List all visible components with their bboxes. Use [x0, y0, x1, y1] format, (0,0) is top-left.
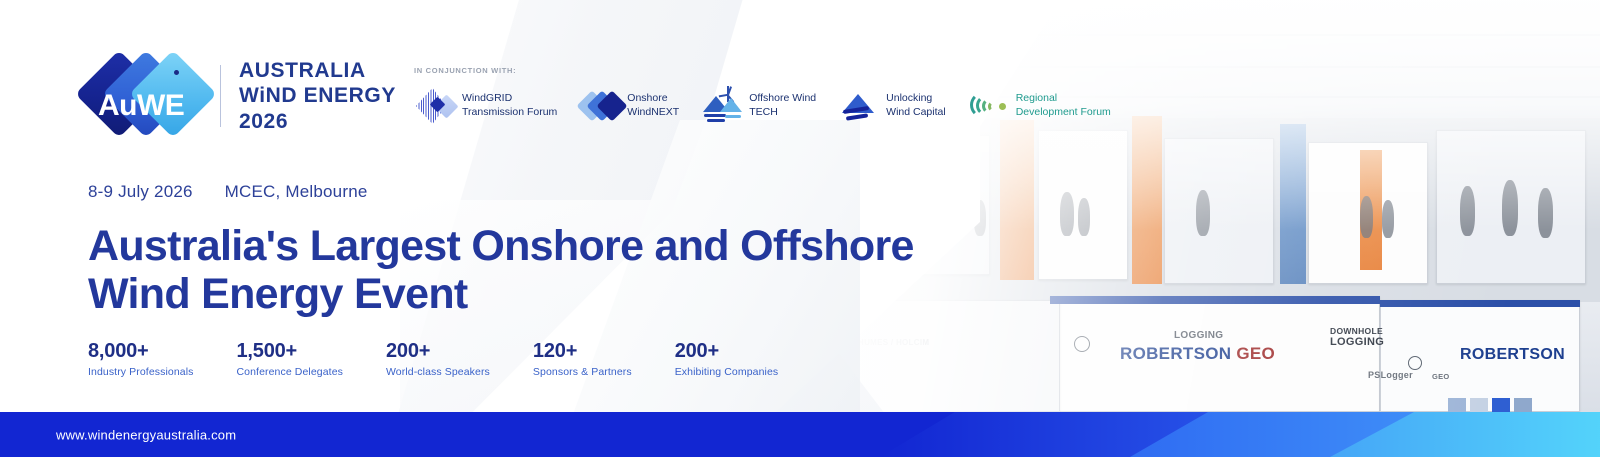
partner-windgrid-line2: Transmission Forum [462, 106, 557, 120]
partner-regional-line1: Regional [1016, 92, 1111, 106]
onshore-windnext-diamonds-icon [579, 84, 627, 128]
partner-unlocking-wind-capital[interactable]: Unlocking Wind Capital [838, 84, 946, 128]
auwe-diamond-mark-icon: AuWE [88, 48, 206, 144]
stat-item: 8,000+ Industry Professionals [88, 340, 194, 378]
partner-unlocking-line2: Wind Capital [886, 106, 946, 120]
partner-windgrid-line1: WindGRID [462, 92, 557, 106]
stat-value: 120+ [533, 340, 632, 363]
partner-unlocking-line1: Unlocking [886, 92, 946, 106]
stat-label: World-class Speakers [386, 366, 490, 378]
stat-label: Industry Professionals [88, 366, 194, 378]
stat-item: 200+ World-class Speakers [386, 340, 490, 378]
website-url[interactable]: www.windenergyaustralia.com [56, 427, 236, 442]
event-dates: 8-9 July 2026 [88, 182, 193, 202]
brand-name-block: AUSTRALIA WiND ENERGY 2026 [239, 58, 396, 135]
partner-onshore-windnext[interactable]: Onshore WindNEXT [579, 84, 679, 128]
stat-label: Exhibiting Companies [675, 366, 779, 378]
partner-regional-label: Regional Development Forum [1016, 92, 1111, 120]
stat-item: 120+ Sponsors & Partners [533, 340, 632, 378]
event-venue: MCEC, Melbourne [225, 182, 368, 202]
stat-value: 200+ [386, 340, 490, 363]
partner-onshore-label: Onshore WindNEXT [627, 92, 679, 120]
windgrid-diamond-icon [414, 84, 462, 128]
event-meta: 8-9 July 2026 MCEC, Melbourne [88, 182, 368, 202]
auwe-wordmark: AuWE [98, 89, 184, 123]
stats-row: 8,000+ Industry Professionals 1,500+ Con… [88, 340, 821, 378]
partner-onshore-line2: WindNEXT [627, 106, 679, 120]
banner-header: AuWE AUSTRALIA WiND ENERGY 2026 IN CONJU… [0, 0, 1200, 150]
partner-offshore-line2: TECH [749, 106, 816, 120]
partner-unlocking-label: Unlocking Wind Capital [886, 92, 946, 120]
brand-line-3: 2026 [239, 109, 396, 135]
stat-item: 1,500+ Conference Delegates [237, 340, 343, 378]
stat-value: 8,000+ [88, 340, 194, 363]
brand-line-1: AUSTRALIA [239, 58, 396, 84]
partner-windgrid[interactable]: WindGRID Transmission Forum [414, 84, 557, 128]
partner-regional-development-forum[interactable]: Regional Development Forum [968, 84, 1111, 128]
stat-value: 200+ [675, 340, 779, 363]
stat-item: 200+ Exhibiting Companies [675, 340, 779, 378]
in-conjunction-label: IN CONJUNCTION WITH: [414, 66, 516, 75]
brand-line-2: WiND ENERGY [239, 83, 396, 109]
partner-offshore-wind-tech[interactable]: Offshore Wind TECH [701, 84, 816, 128]
stat-value: 1,500+ [237, 340, 343, 363]
sparkle-dot-icon [174, 70, 179, 75]
offshore-wind-tech-turbine-icon [701, 84, 749, 128]
stat-label: Conference Delegates [237, 366, 343, 378]
event-banner: ASS HUMES / HOLCIM LOGGING ROBERTSON GEO… [0, 0, 1600, 457]
footer-bar: www.windenergyaustralia.com [0, 412, 1600, 457]
partner-windgrid-label: WindGRID Transmission Forum [462, 92, 557, 120]
stat-label: Sponsors & Partners [533, 366, 632, 378]
partner-onshore-line1: Onshore [627, 92, 679, 106]
partner-offshore-line1: Offshore Wind [749, 92, 816, 106]
page-title: Australia's Largest Onshore and Offshore… [88, 222, 978, 318]
partner-offshore-label: Offshore Wind TECH [749, 92, 816, 120]
brand-divider [220, 65, 221, 127]
partner-regional-line2: Development Forum [1016, 106, 1111, 120]
regional-development-forum-arcs-icon [968, 84, 1016, 128]
auwe-brand-logo[interactable]: AuWE AUSTRALIA WiND ENERGY 2026 [88, 48, 396, 144]
partner-logo-row: WindGRID Transmission Forum Onshore Wind… [414, 84, 1133, 128]
unlocking-wind-capital-triangle-icon [838, 84, 886, 128]
